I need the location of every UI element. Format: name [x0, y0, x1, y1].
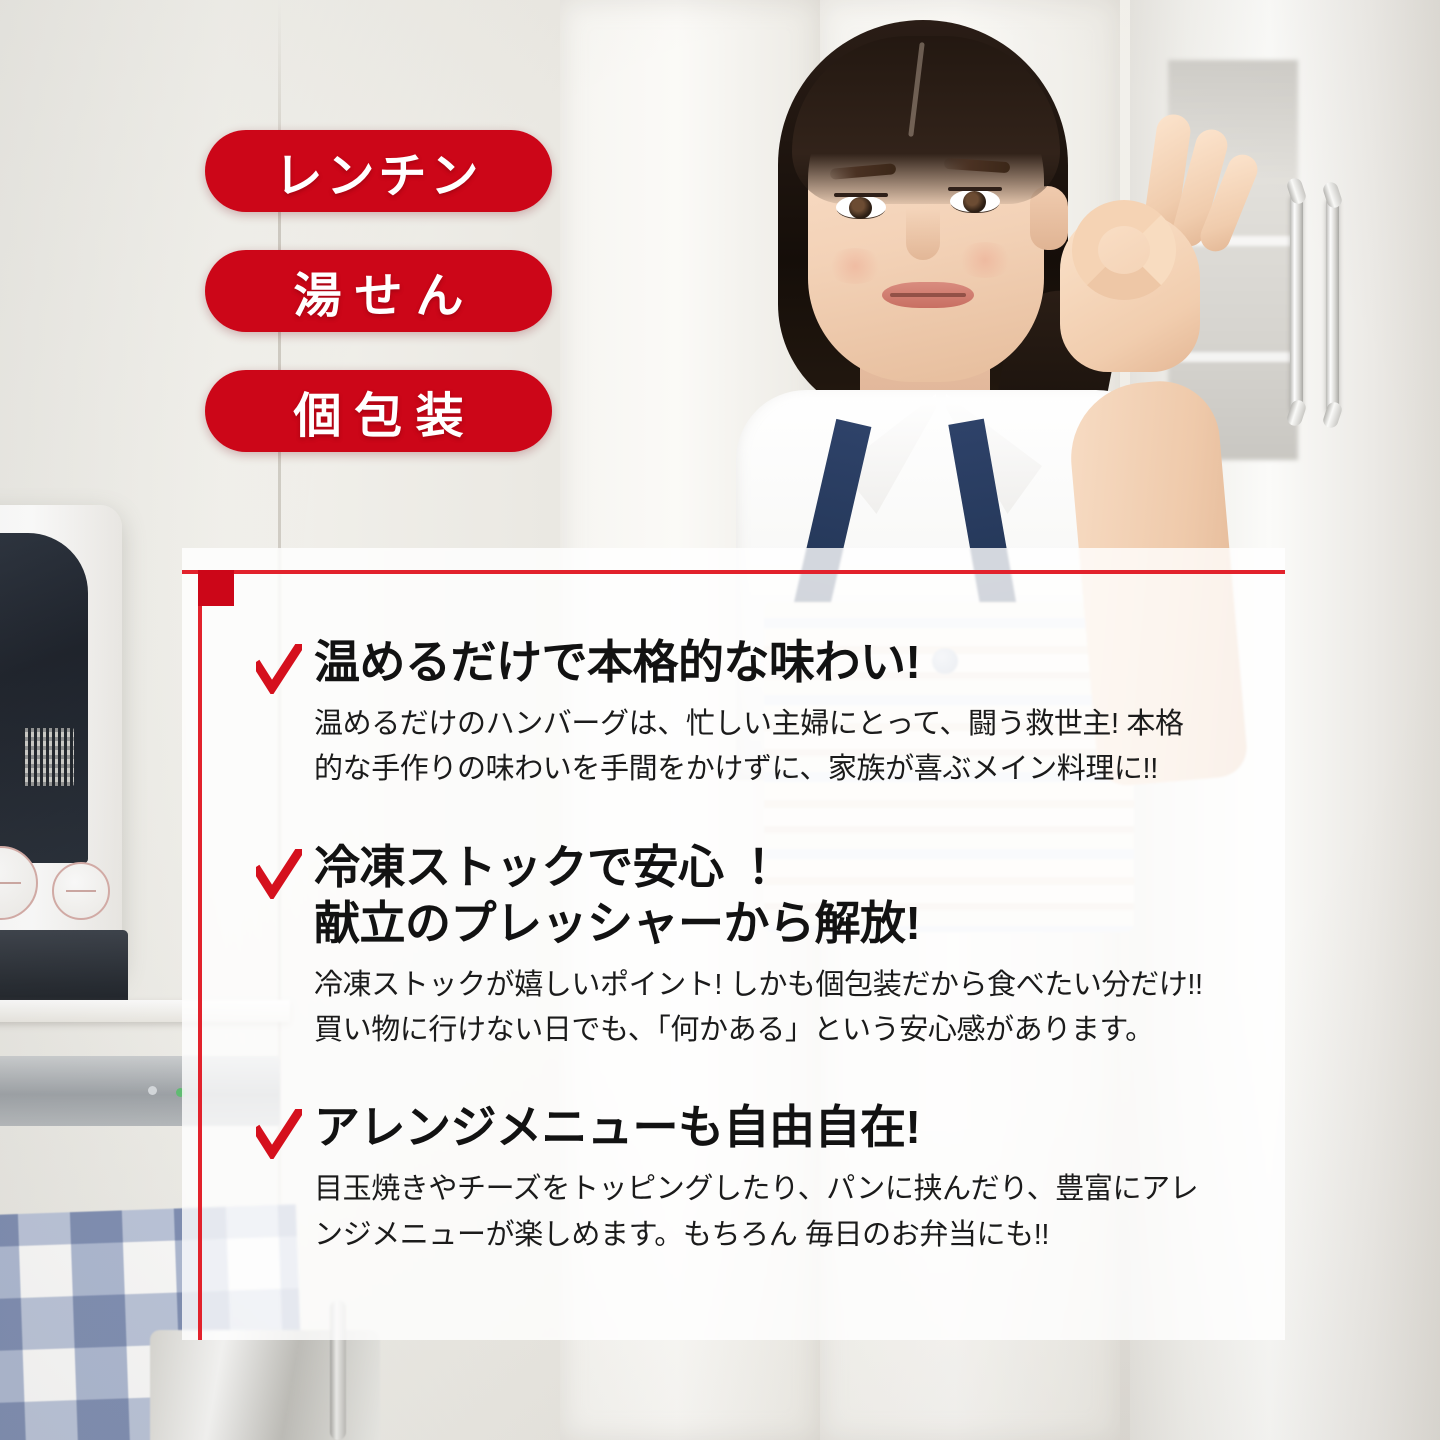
- feature-item-3: アレンジメニューも自由自在! 目玉焼きやチーズをトッピングしたり、パンに挟んだり…: [256, 1099, 1256, 1258]
- feature-heading-1: 温めるだけで本格的な味わい!: [314, 634, 1256, 690]
- eyelash-right: [948, 187, 1002, 191]
- cheek-right: [956, 242, 1014, 278]
- panel-corner-marker: [198, 570, 234, 606]
- panel-border-left: [198, 570, 202, 1340]
- feature-heading-2: 冷凍ストックで安心 ！ 献立のプレッシャーから解放!: [314, 839, 1256, 951]
- eye-left: [836, 196, 886, 219]
- iris-left: [849, 197, 872, 219]
- ok-ring: [1072, 200, 1176, 300]
- promo-image: レンチン 湯せん 個包装 温めるだけで本格的な味わい! 温めるだけのハンバーグは…: [0, 0, 1440, 1440]
- feature-body-3: 目玉焼きやチーズをトッピングしたり、パンに挟んだり、豊富にアレ ンジメニューが楽…: [314, 1167, 1256, 1257]
- feature-body-1: 温めるだけのハンバーグは、忙しい主婦にとって、闘う救世主! 本格 的な手作りの味…: [314, 702, 1256, 792]
- red-check-icon: [256, 1109, 302, 1159]
- red-check-icon: [256, 644, 302, 694]
- ok-gesture-hand: [1032, 108, 1242, 408]
- badge-renchin[interactable]: レンチン: [205, 130, 552, 212]
- feature-heading-3: アレンジメニューも自由自在!: [314, 1099, 1256, 1155]
- badge-kohoso[interactable]: 個包装: [205, 370, 552, 452]
- nose: [906, 208, 940, 260]
- badge-yusen[interactable]: 湯せん: [205, 250, 552, 332]
- feature-body-2: 冷凍ストックが嬉しいポイント! しかも個包装だから食べたい分だけ!! 買い物に行…: [314, 963, 1256, 1053]
- feature-item-1: 温めるだけで本格的な味わい! 温めるだけのハンバーグは、忙しい主婦にとって、闘う…: [256, 634, 1256, 793]
- iris-right: [963, 191, 986, 213]
- cheek-left: [826, 248, 884, 284]
- eye-right: [950, 190, 1000, 213]
- red-check-icon: [256, 849, 302, 899]
- feature-item-2: 冷凍ストックで安心 ！ 献立のプレッシャーから解放! 冷凍ストックが嬉しいポイン…: [256, 839, 1256, 1054]
- panel-border-top: [182, 570, 1285, 574]
- feature-badges: レンチン 湯せん 個包装: [205, 130, 552, 490]
- feature-list: 温めるだけで本格的な味わい! 温めるだけのハンバーグは、忙しい主婦にとって、闘う…: [256, 634, 1256, 1304]
- lips: [882, 282, 974, 308]
- eyelash-left: [834, 193, 888, 197]
